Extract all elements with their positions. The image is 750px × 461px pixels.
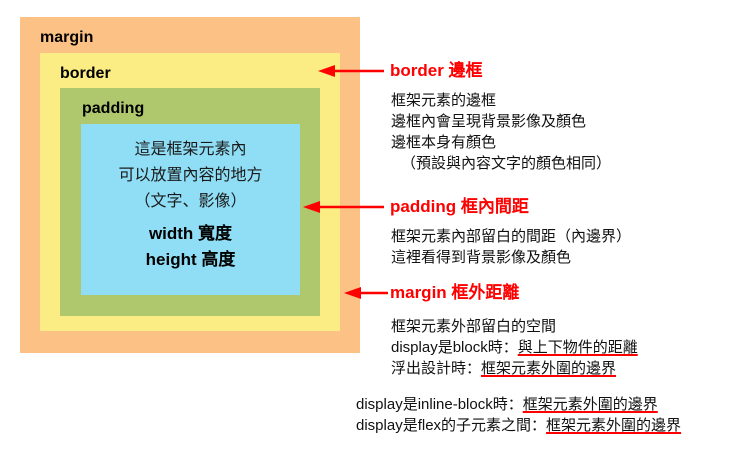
content-layer-text: 這是框架元素內 可以放置內容的地方 （文字、影像） width 寬度 heigh… — [81, 137, 300, 273]
margin-layer-label: margin — [40, 30, 93, 46]
margin-block-prefix: display是block時： — [391, 339, 518, 356]
padding-callout-arrow — [303, 200, 384, 214]
margin-flex-value: 框架元素外圍的邊界 — [546, 417, 681, 434]
margin-flex-prefix: display是flex的子元素之間： — [356, 417, 546, 434]
border-callout-arrow — [318, 64, 384, 78]
border-annotation-heading: border 邊框 — [390, 62, 483, 79]
content-height-label: height 高度 — [81, 247, 300, 273]
margin-extra-body: display是inline-block時：框架元素外圍的邊界 display是… — [356, 394, 681, 436]
content-layer: 這是框架元素內 可以放置內容的地方 （文字、影像） width 寬度 heigh… — [81, 124, 300, 295]
margin-float-prefix: 浮出設計時： — [391, 360, 481, 377]
border-annotation-line-4: （預設與內容文字的顏色相同） — [391, 153, 611, 174]
margin-callout-arrow — [344, 286, 388, 300]
padding-annotation-body: 框架元素內部留白的間距（內邊界） 這裡看得到背景影像及顏色 — [391, 226, 631, 268]
content-line-1: 這是框架元素內 — [81, 137, 300, 163]
border-annotation-line-3: 邊框本身有顏色 — [391, 132, 611, 153]
border-annotation-line-2: 邊框內會呈現背景影像及顏色 — [391, 111, 611, 132]
margin-inline-block-line: display是inline-block時：框架元素外圍的邊界 — [356, 394, 681, 415]
border-layer: border padding 這是框架元素內 可以放置內容的地方 （文字、影像）… — [40, 53, 340, 331]
margin-layer: margin border padding 這是框架元素內 可以放置內容的地方 … — [20, 17, 360, 353]
padding-layer: padding 這是框架元素內 可以放置內容的地方 （文字、影像） width … — [60, 88, 320, 316]
margin-float-line: 浮出設計時：框架元素外圍的邊界 — [391, 358, 638, 379]
padding-annotation-heading: padding 框內間距 — [390, 198, 529, 215]
padding-annotation-line-1: 框架元素內部留白的間距（內邊界） — [391, 226, 631, 247]
padding-layer-label: padding — [82, 101, 144, 117]
border-layer-label: border — [60, 66, 111, 82]
margin-float-value: 框架元素外圍的邊界 — [481, 360, 616, 377]
margin-inline-block-prefix: display是inline-block時： — [356, 396, 523, 413]
margin-inline-block-value: 框架元素外圍的邊界 — [523, 396, 658, 413]
content-line-3: （文字、影像） — [81, 189, 300, 215]
content-width-label: width 寬度 — [81, 221, 300, 247]
padding-annotation-line-2: 這裡看得到背景影像及顏色 — [391, 247, 631, 268]
margin-flex-line: display是flex的子元素之間：框架元素外圍的邊界 — [356, 415, 681, 436]
margin-annotation-heading: margin 框外距離 — [390, 284, 519, 301]
content-line-2: 可以放置內容的地方 — [81, 163, 300, 189]
box-model-diagram: margin border padding 這是框架元素內 可以放置內容的地方 … — [20, 17, 360, 353]
border-annotation-line-1: 框架元素的邊框 — [391, 90, 611, 111]
margin-annotation-body: 框架元素外部留白的空間 display是block時：與上下物件的距離 浮出設計… — [391, 316, 638, 379]
border-annotation-body: 框架元素的邊框 邊框內會呈現背景影像及顏色 邊框本身有顏色 （預設與內容文字的顏… — [391, 90, 611, 174]
margin-block-value: 與上下物件的距離 — [518, 339, 638, 356]
margin-annotation-line-1: 框架元素外部留白的空間 — [391, 316, 638, 337]
margin-block-line: display是block時：與上下物件的距離 — [391, 337, 638, 358]
